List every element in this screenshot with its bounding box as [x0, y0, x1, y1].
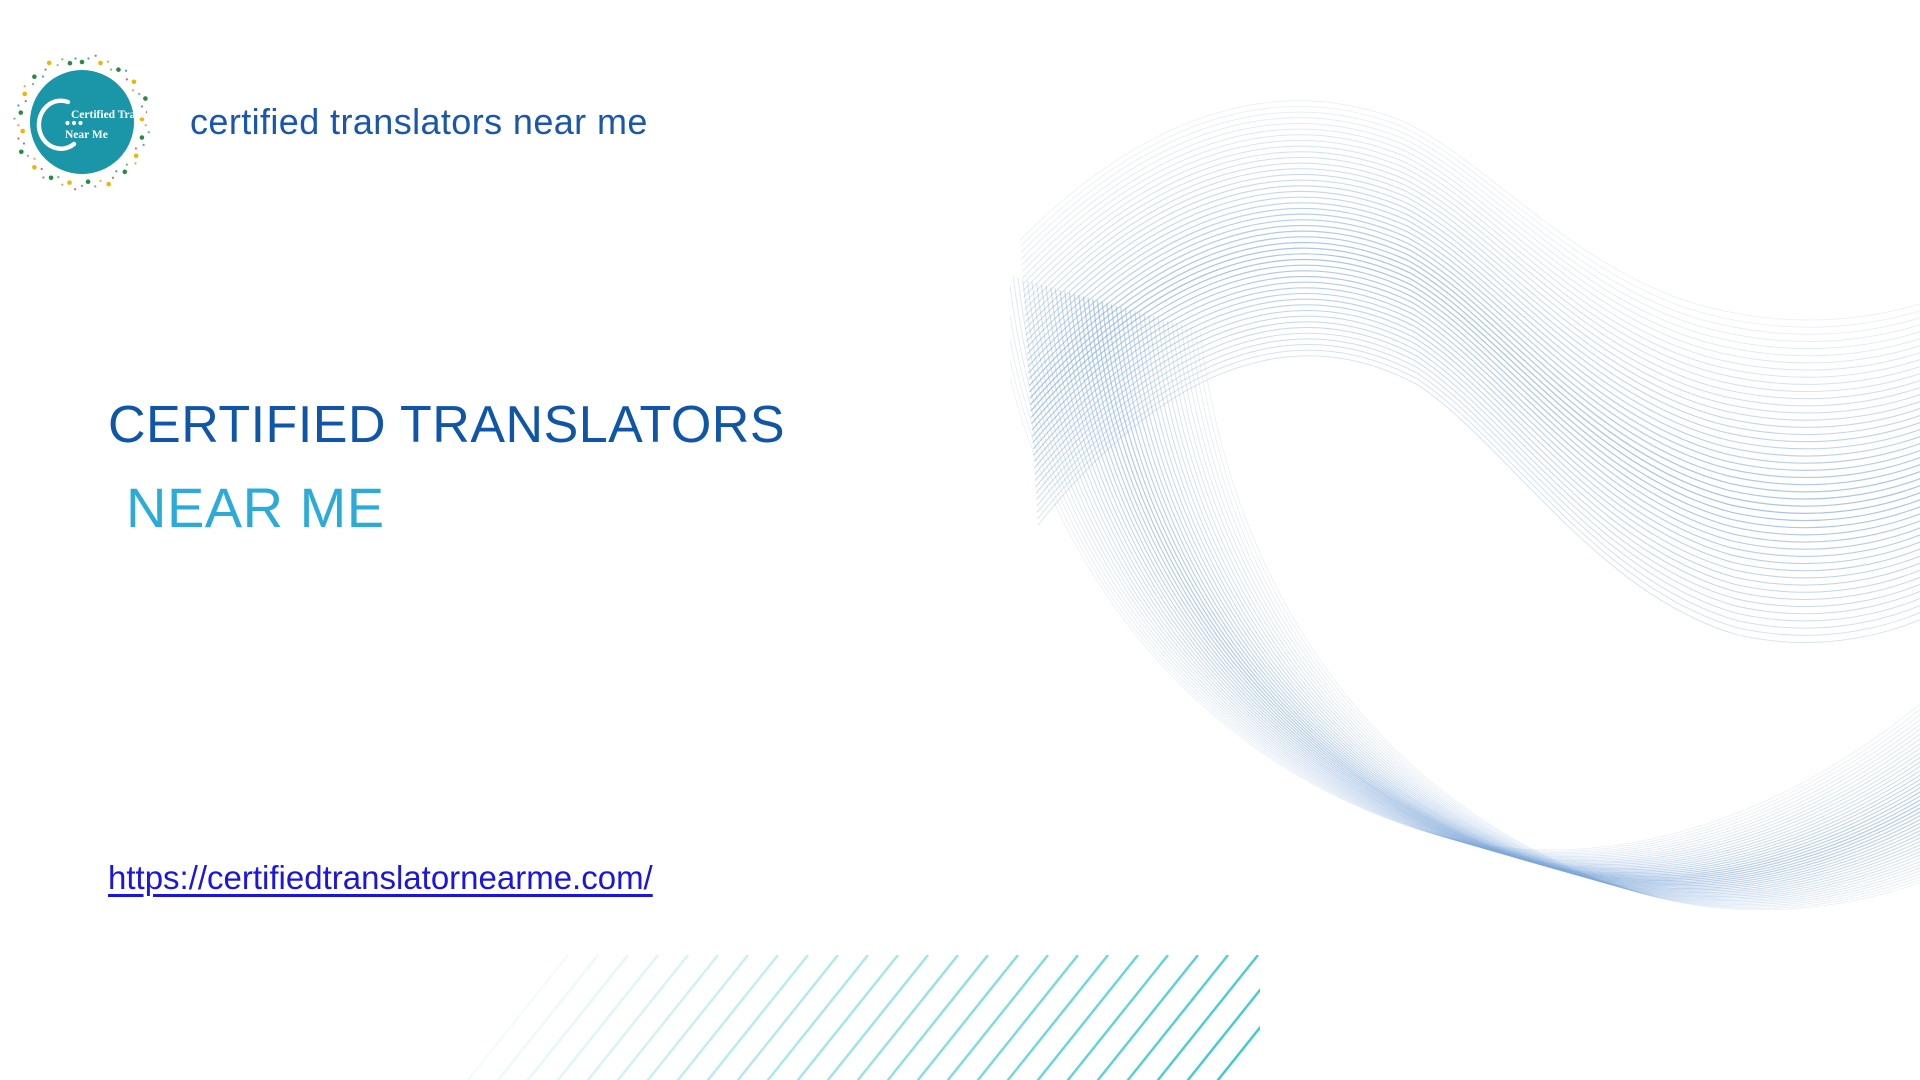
- website-url-link[interactable]: https://certifiedtranslatornearme.com/: [108, 858, 653, 898]
- brand-name-text: certified translators near me: [190, 102, 648, 142]
- logo-text-line1: Certified Translator: [71, 109, 156, 121]
- headline-primary: CERTIFIED TRANSLATORS: [108, 398, 785, 453]
- certified-translator-near-me-logo: Certified Translator Near Me: [8, 48, 156, 196]
- wave-mesh-graphic: [1010, 20, 1920, 1060]
- slide-canvas: Certified Translator Near Me certified t…: [0, 0, 1920, 1080]
- diagonal-stripes-graphic: [420, 955, 1260, 1080]
- logo-text-line2: Near Me: [65, 129, 108, 141]
- brand-header: Certified Translator Near Me certified t…: [8, 48, 648, 196]
- headline-block: CERTIFIED TRANSLATORS NEAR ME: [108, 398, 785, 537]
- headline-secondary: NEAR ME: [126, 479, 785, 538]
